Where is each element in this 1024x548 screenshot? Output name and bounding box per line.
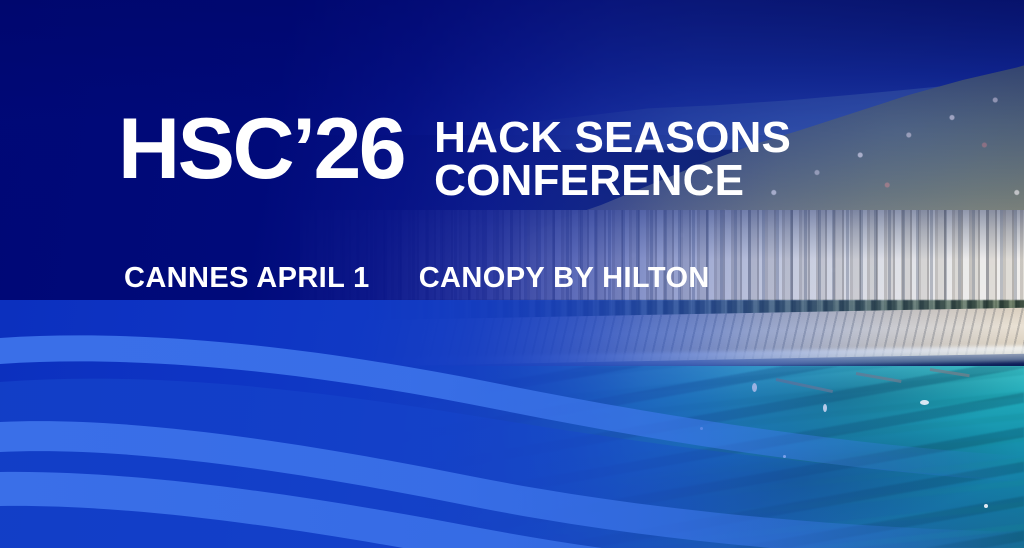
brand-name: HACK SEASONS CONFERENCE: [434, 117, 791, 202]
brand-name-line-1: HACK SEASONS: [434, 117, 791, 160]
banner-content: HSC’26 HACK SEASONS CONFERENCE CANNES AP…: [0, 0, 1024, 548]
event-location-date: CANNES APRIL 1: [124, 262, 370, 295]
title-lockup: HSC’26 HACK SEASONS CONFERENCE: [118, 108, 791, 202]
conference-banner: HSC’26 HACK SEASONS CONFERENCE CANNES AP…: [0, 0, 1024, 548]
event-venue: CANOPY BY HILTON: [419, 262, 710, 295]
event-details: CANNES APRIL 1 CANOPY BY HILTON: [124, 262, 710, 295]
brand-name-line-2: CONFERENCE: [434, 160, 791, 203]
brand-mark: HSC’26: [118, 108, 404, 191]
